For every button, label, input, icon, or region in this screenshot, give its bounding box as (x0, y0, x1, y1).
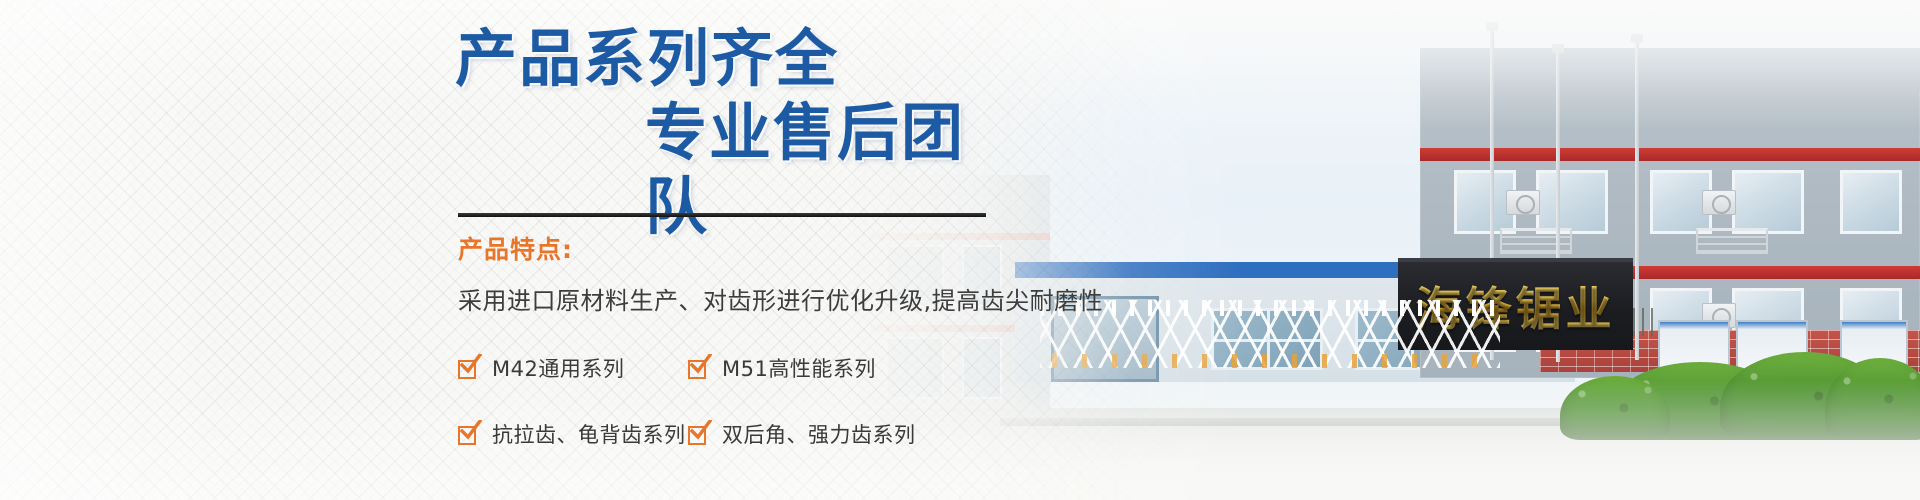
check-mark-icon (460, 354, 482, 374)
list-item: 抗拉齿、龟背齿系列 (458, 419, 688, 449)
promo-banner: 海锋锯业 产品系列齐全 专业售后团队 产品特点: 采用进口原材料生产、对齿形进行… (0, 0, 1920, 500)
list-item-label: 双后角、强力齿系列 (722, 419, 916, 449)
checkbox-checked-icon (458, 424, 478, 445)
banner-content: 产品系列齐全 专业售后团队 产品特点: 采用进口原材料生产、对齿形进行优化升级,… (0, 0, 1050, 500)
divider-rule (458, 213, 986, 217)
list-item: 双后角、强力齿系列 (688, 419, 928, 449)
feature-title: 产品特点: (458, 230, 573, 266)
feature-description: 采用进口原材料生产、对齿形进行优化升级,提高齿尖耐磨性 (458, 281, 1103, 316)
headline-line-1: 产品系列齐全 (0, 22, 1000, 96)
feature-list: M42通用系列 M51高性能系列 抗拉齿、龟背齿系列 (458, 353, 998, 449)
retractable-gate (1040, 300, 1500, 368)
list-item: M51高性能系列 (688, 353, 928, 383)
headline: 产品系列齐全 专业售后团队 (0, 22, 1000, 244)
list-item-label: 抗拉齿、龟背齿系列 (492, 419, 686, 449)
check-mark-icon (690, 354, 712, 374)
list-item-label: M51高性能系列 (722, 353, 876, 383)
checkbox-checked-icon (458, 358, 478, 379)
list-item: M42通用系列 (458, 353, 688, 383)
list-item-label: M42通用系列 (492, 353, 624, 383)
checkbox-checked-icon (688, 424, 708, 445)
check-mark-icon (460, 420, 482, 440)
flag-pole (1635, 42, 1639, 360)
headline-line-2: 专业售后团队 (0, 96, 1000, 244)
check-mark-icon (690, 420, 712, 440)
checkbox-checked-icon (688, 358, 708, 379)
